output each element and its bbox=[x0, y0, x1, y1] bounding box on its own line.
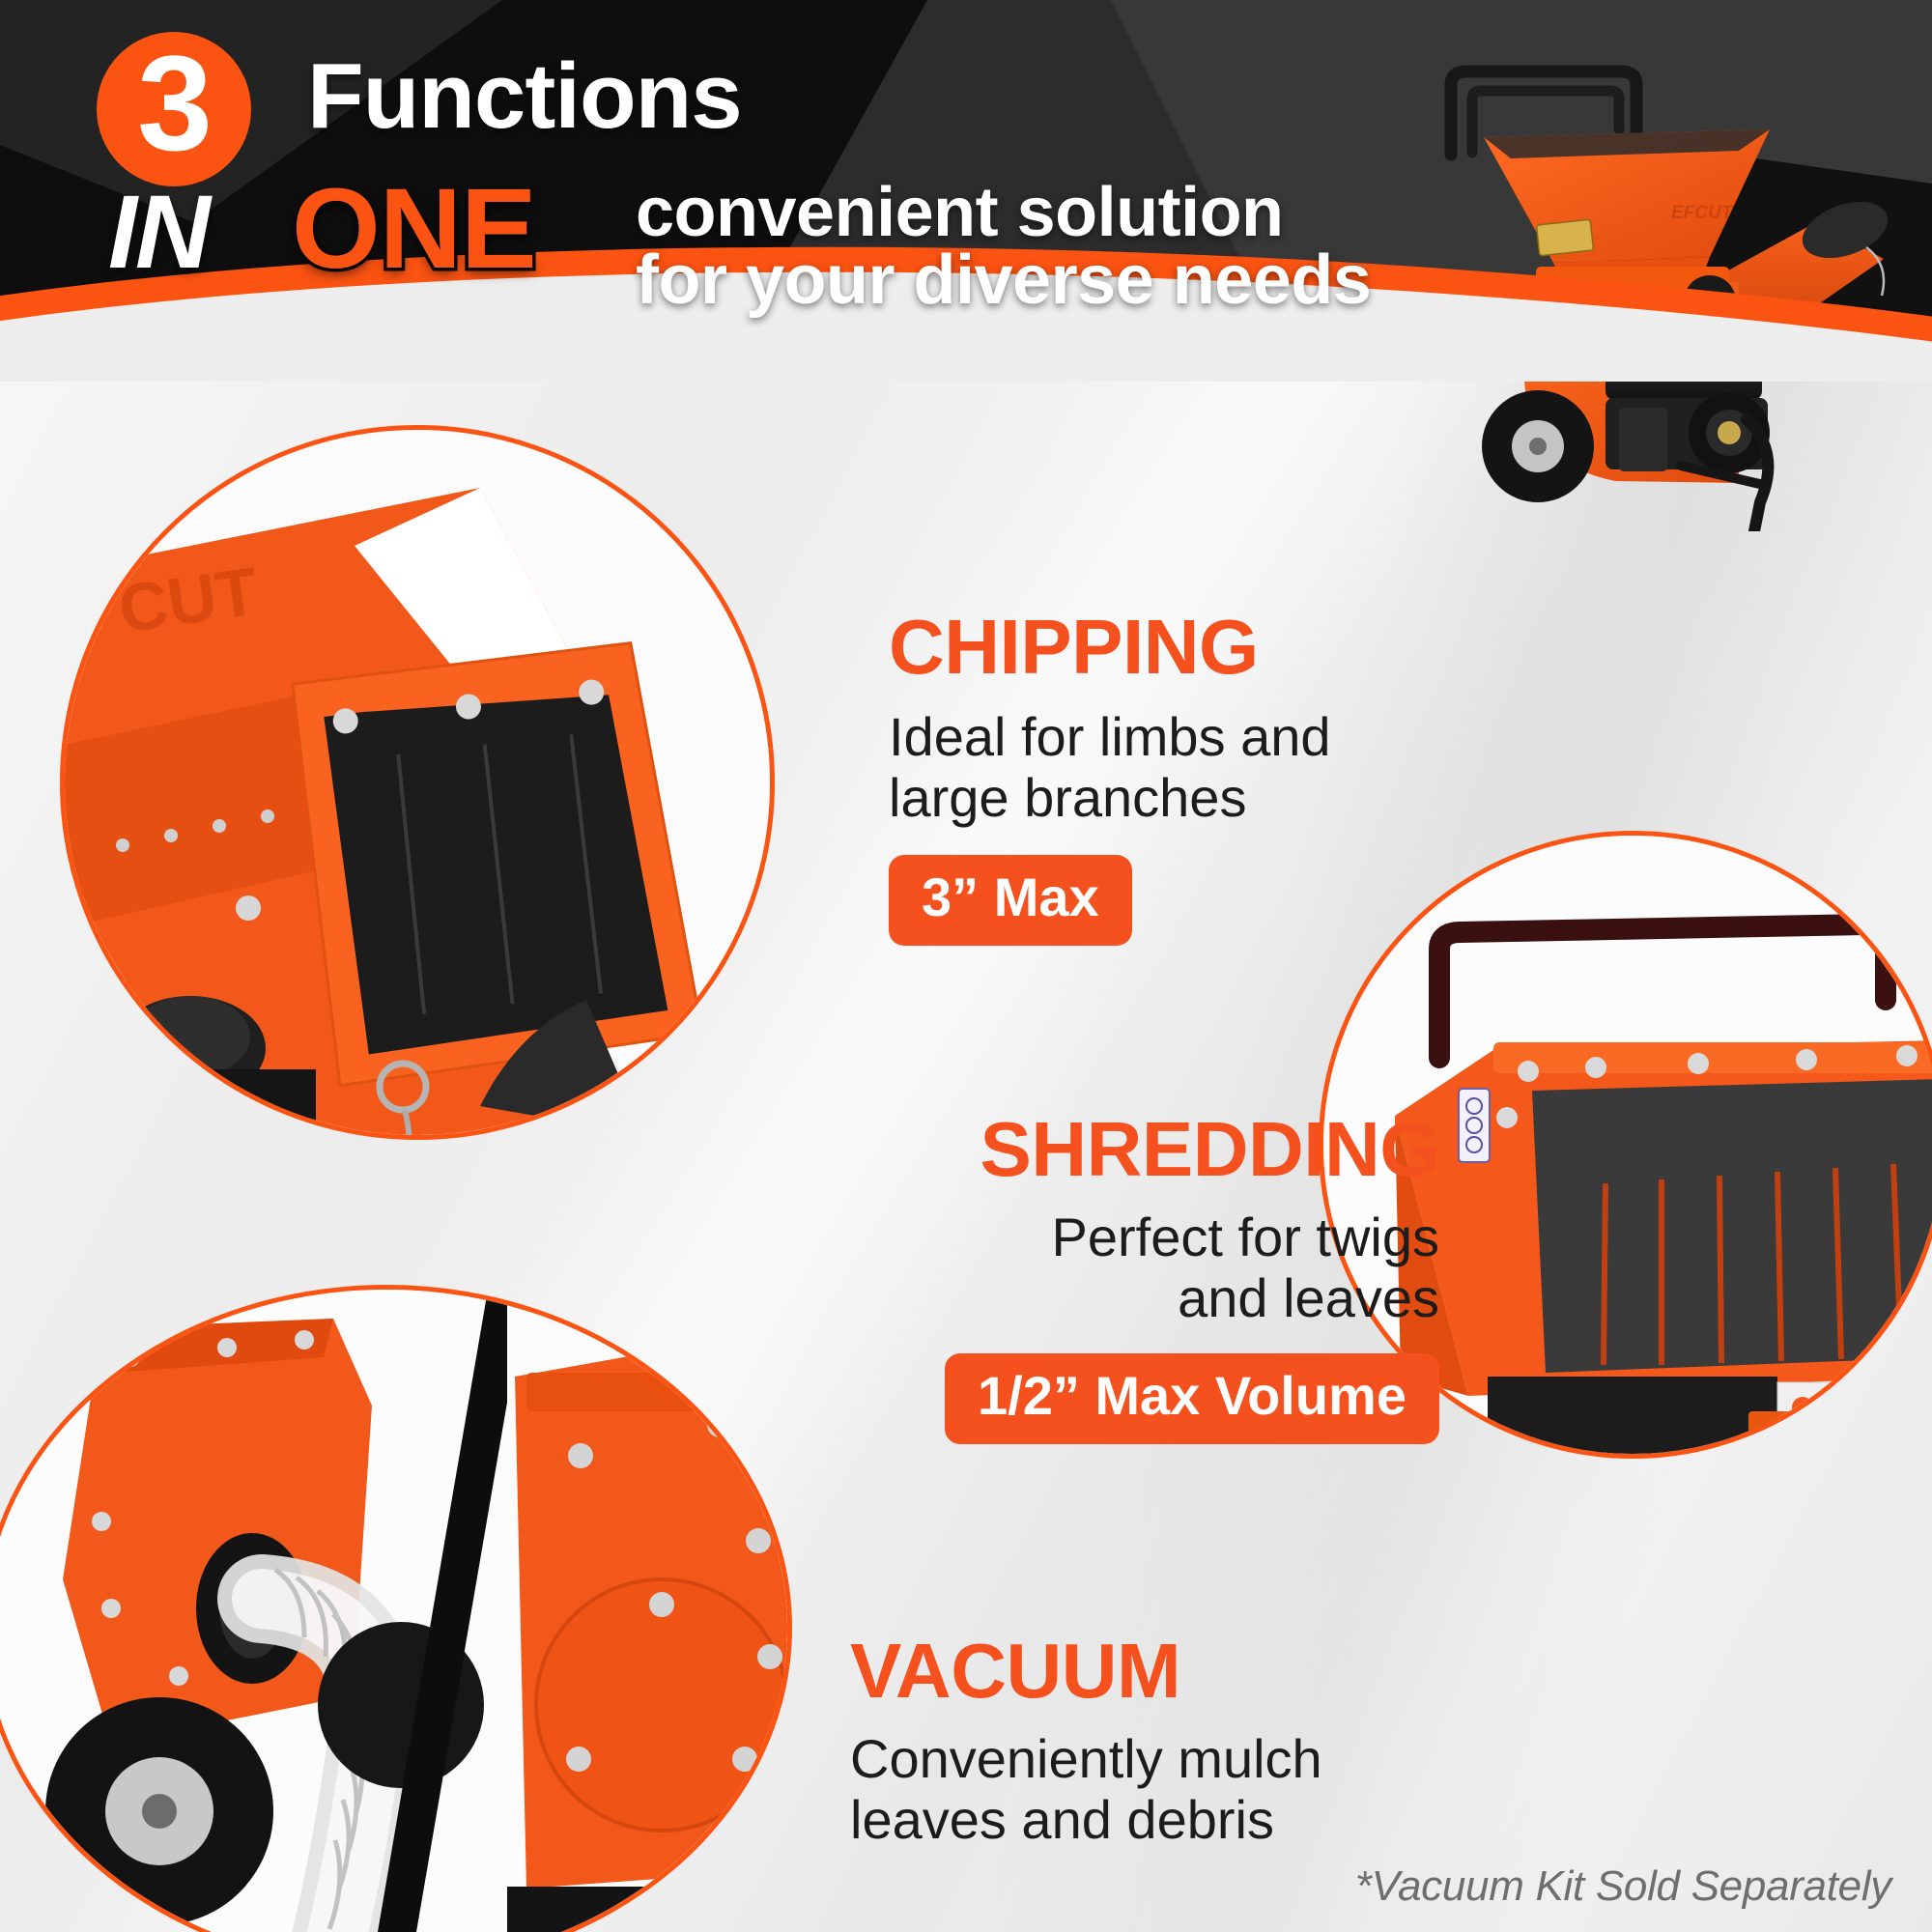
headline-in: IN bbox=[108, 180, 209, 284]
footnote-disclaimer: *Vacuum Kit Sold Separately bbox=[1355, 1862, 1891, 1911]
feature-title-chipping: CHIPPING bbox=[889, 609, 1430, 686]
headline-one: ONE bbox=[292, 172, 536, 286]
feature-desc-line-2: leaves and debris bbox=[850, 1790, 1449, 1851]
feature-desc-line-2: and leaves bbox=[831, 1268, 1439, 1329]
feature-desc-line-2: large branches bbox=[889, 768, 1430, 829]
infographic-canvas: EFCUT bbox=[0, 0, 1932, 1932]
feature-desc-chipping: Ideal for limbs and large branches bbox=[889, 707, 1430, 828]
feature-desc-line-1: Ideal for limbs and bbox=[889, 707, 1430, 768]
headline-subline-2: for your diverse needs bbox=[636, 245, 1371, 315]
feature-block-chipping: CHIPPING Ideal for limbs and large branc… bbox=[889, 609, 1430, 946]
feature-block-shredding: SHREDDING Perfect for twigs and leaves 1… bbox=[831, 1111, 1439, 1444]
feature-title-shredding: SHREDDING bbox=[831, 1111, 1439, 1188]
number-badge-label: 3 bbox=[137, 36, 211, 171]
number-badge: 3 bbox=[97, 32, 251, 186]
feature-block-vacuum: VACUUM Conveniently mulch leaves and deb… bbox=[850, 1633, 1449, 1850]
svg-text:EFCUT: EFCUT bbox=[1671, 203, 1734, 223]
feature-badge-shredding: 1/2” Max Volume bbox=[945, 1353, 1439, 1444]
feature-badge-chipping: 3” Max bbox=[889, 855, 1132, 946]
feature-photo-chipping: CUT bbox=[60, 425, 775, 1140]
headline-functions: Functions bbox=[307, 50, 742, 143]
headline-subline-1: convenient solution bbox=[636, 178, 1284, 247]
feature-title-vacuum: VACUUM bbox=[850, 1633, 1449, 1710]
feature-desc-line-1: Perfect for twigs bbox=[831, 1207, 1439, 1268]
feature-desc-line-1: Conveniently mulch bbox=[850, 1729, 1449, 1790]
feature-desc-vacuum: Conveniently mulch leaves and debris bbox=[850, 1729, 1449, 1850]
feature-desc-shredding: Perfect for twigs and leaves bbox=[831, 1207, 1439, 1328]
